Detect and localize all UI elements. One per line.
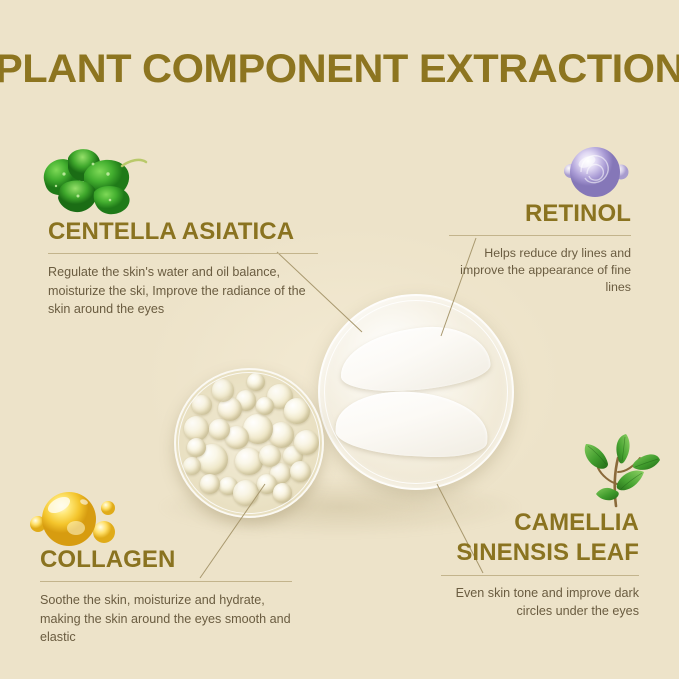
bead — [294, 430, 319, 455]
bead — [273, 483, 293, 503]
ingredient-name-collagen: COLLAGEN — [40, 546, 292, 574]
bead — [259, 445, 281, 467]
infographic-canvas: PLANT COMPONENT EXTRACTION — [0, 0, 679, 679]
ingredient-description-retinol: Helps reduce dry lines and improve the a… — [449, 245, 631, 296]
glass-jar-with-eye-patches — [318, 294, 514, 490]
ingredient-name-centella: CENTELLA ASIATICA — [48, 218, 318, 246]
eye-patch-bottom — [334, 388, 489, 460]
eye-patch-top — [338, 323, 492, 395]
ingredient-panel-collagen: COLLAGEN Soothe the skin, moisturize and… — [40, 546, 292, 647]
ingredient-panel-centella: CENTELLA ASIATICA Regulate the skin's wa… — [48, 218, 318, 319]
bead — [256, 397, 274, 415]
ingredient-panel-camellia: CAMELLIA SINENSIS LEAF Even skin tone an… — [441, 508, 639, 620]
bead — [284, 398, 310, 424]
glass-jar-with-beads — [174, 368, 324, 518]
ingredient-description-centella: Regulate the skin's water and oil balanc… — [48, 263, 318, 319]
bead — [183, 457, 202, 476]
retinol-droplet-icon — [556, 142, 634, 204]
panel-divider — [40, 581, 292, 582]
bead — [209, 419, 229, 439]
tea-leaf-icon — [574, 432, 662, 514]
product-photo — [150, 282, 540, 542]
ingredient-name-camellia: CAMELLIA SINENSIS LEAF — [441, 508, 639, 568]
bead — [192, 395, 212, 415]
bead — [290, 461, 311, 482]
bead — [233, 480, 260, 507]
ingredient-name-retinol: RETINOL — [449, 200, 631, 228]
ingredient-panel-retinol: RETINOL Helps reduce dry lines and impro… — [449, 200, 631, 296]
centella-leaves-icon — [38, 144, 150, 220]
panel-divider — [441, 575, 639, 576]
panel-divider — [449, 235, 631, 236]
ingredient-description-camellia: Even skin tone and improve dark circles … — [441, 585, 639, 620]
bead — [247, 373, 265, 391]
page-title: PLANT COMPONENT EXTRACTION — [0, 46, 679, 92]
bead — [187, 438, 206, 457]
panel-divider — [48, 253, 318, 254]
ingredient-description-collagen: Soothe the skin, moisturize and hydrate,… — [40, 591, 292, 647]
bead — [200, 474, 220, 494]
